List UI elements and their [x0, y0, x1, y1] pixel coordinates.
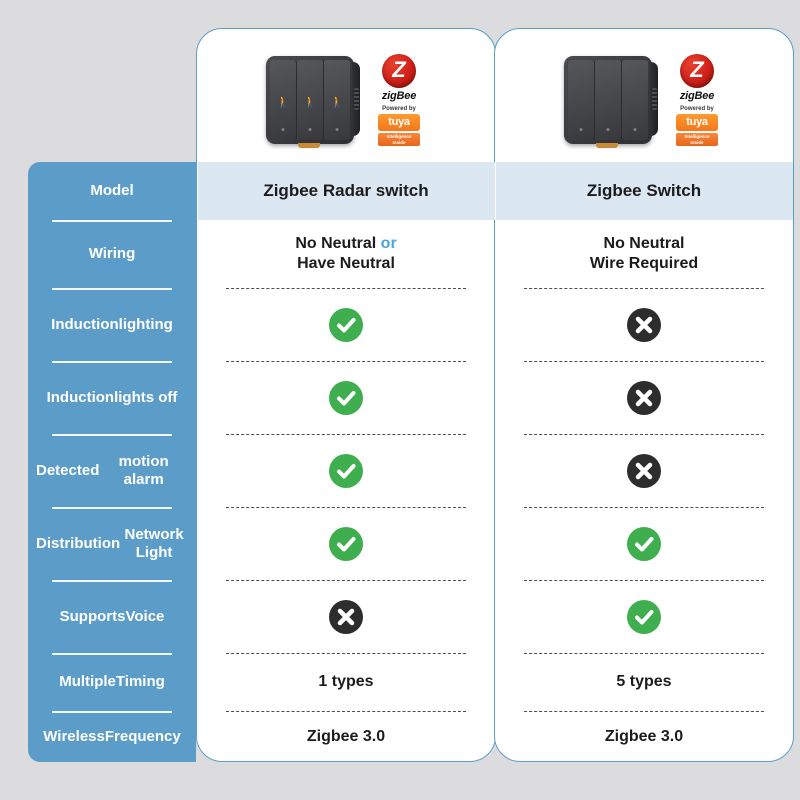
- cell-supports-voice-2: [494, 580, 794, 653]
- zigbee-wordmark: zigBee: [680, 90, 714, 102]
- cell-text: Zigbee 3.0: [605, 727, 683, 747]
- led-indicator-icon: [336, 128, 339, 131]
- led-indicator-icon: [634, 128, 637, 131]
- led-indicator-icon: [282, 128, 285, 131]
- switch-key: [595, 60, 622, 140]
- zigbee-z-glyph: Z: [690, 59, 703, 81]
- cell-distribution-network-light-1: [196, 507, 496, 580]
- cell-multiple-timing-2: 5 types: [494, 653, 794, 711]
- cell-induction-lights-off-2: [494, 361, 794, 434]
- tuya-logo-icon: tuya: [676, 114, 718, 131]
- feature-label-sidebar: ModelWiringInductionlightingInductionlig…: [28, 162, 196, 762]
- wall-switch-image-1: 🚶 🚶 🚶: [264, 54, 360, 146]
- feature-label-multiple-timing: MultipleTiming: [28, 653, 196, 711]
- cell-text: No NeutralWire Required: [590, 234, 698, 274]
- cell-text: 5 types: [616, 672, 671, 692]
- cell-supports-voice-1: [196, 580, 496, 653]
- zigbee-z-glyph: Z: [392, 59, 405, 81]
- cell-wiring-1: No Neutral orHave Neutral: [196, 220, 496, 288]
- product-image-area-1: 🚶 🚶 🚶 Z zi: [197, 29, 495, 167]
- check-circle-icon: [329, 527, 363, 561]
- switch-key: [568, 60, 595, 140]
- powered-by-label: Powered by: [680, 106, 714, 112]
- tuya-logo-icon: tuya: [378, 114, 420, 131]
- check-circle-icon: [329, 454, 363, 488]
- check-circle-icon: [627, 527, 661, 561]
- zigbee-logo-icon: Z: [680, 54, 714, 88]
- cell-induction-lights-off-1: [196, 361, 496, 434]
- cell-distribution-network-light-2: [494, 507, 794, 580]
- feature-label-induction-lights-off: Inductionlights off: [28, 361, 196, 434]
- certification-logos-2: Z zigBee Powered by tuya Intelligence In…: [668, 54, 726, 146]
- feature-label-distribution-network-light: DistributionNetwork Light: [28, 507, 196, 580]
- tuya-intelligence-inside-badge: Intelligence Inside: [378, 133, 420, 146]
- model-name-2: Zigbee Switch: [494, 162, 794, 220]
- cross-circle-icon: [627, 454, 661, 488]
- check-circle-icon: [329, 381, 363, 415]
- switch-key: [622, 60, 648, 140]
- model-name-1: Zigbee Radar switch: [196, 162, 496, 220]
- cell-text: Zigbee 3.0: [307, 727, 385, 747]
- feature-label-supports-voice: SupportsVoice: [28, 580, 196, 653]
- tuya-intelligence-inside-badge: Intelligence Inside: [676, 133, 718, 146]
- motion-sensor-icon: 🚶: [276, 98, 290, 109]
- motion-sensor-icon: 🚶: [303, 98, 317, 109]
- led-indicator-icon: [607, 128, 610, 131]
- certification-logos-1: Z zigBee Powered by tuya Intelligence In…: [370, 54, 428, 146]
- cross-circle-icon: [329, 600, 363, 634]
- feature-label-induction-lighting: Inductionlighting: [28, 288, 196, 361]
- cross-circle-icon: [627, 381, 661, 415]
- switch-key: 🚶: [324, 60, 350, 140]
- zigbee-logo-icon: Z: [382, 54, 416, 88]
- cell-multiple-timing-1: 1 types: [196, 653, 496, 711]
- cell-induction-lighting-1: [196, 288, 496, 361]
- cell-text: No Neutral orHave Neutral: [295, 234, 396, 274]
- tuya-wordmark: tuya: [388, 117, 409, 128]
- switch-key: 🚶: [297, 60, 324, 140]
- cell-detected-motion-alarm-2: [494, 434, 794, 507]
- cell-wireless-frequency-2: Zigbee 3.0: [494, 711, 794, 762]
- cell-text: 1 types: [318, 672, 373, 692]
- feature-label-wireless-frequency: WirelessFrequency: [28, 711, 196, 762]
- product-image-area-2: Z zigBee Powered by tuya Intelligence In…: [495, 29, 793, 167]
- cell-wiring-2: No NeutralWire Required: [494, 220, 794, 288]
- powered-by-label: Powered by: [382, 106, 416, 112]
- cross-circle-icon: [627, 308, 661, 342]
- cell-wireless-frequency-1: Zigbee 3.0: [196, 711, 496, 762]
- feature-label-detected-motion-alarm: Detectedmotion alarm: [28, 434, 196, 507]
- motion-sensor-icon: 🚶: [330, 98, 344, 109]
- led-indicator-icon: [309, 128, 312, 131]
- led-indicator-icon: [580, 128, 583, 131]
- cell-detected-motion-alarm-1: [196, 434, 496, 507]
- cell-induction-lighting-2: [494, 288, 794, 361]
- feature-label-model: Model: [28, 162, 196, 220]
- check-circle-icon: [329, 308, 363, 342]
- zigbee-wordmark: zigBee: [382, 90, 416, 102]
- cell-text-highlight: or: [381, 235, 397, 252]
- feature-label-wiring: Wiring: [28, 220, 196, 288]
- check-circle-icon: [627, 600, 661, 634]
- tuya-wordmark: tuya: [686, 117, 707, 128]
- wall-switch-image-2: [562, 54, 658, 146]
- comparison-table-page: 🚶 🚶 🚶 Z zi: [0, 0, 800, 800]
- switch-key: 🚶: [270, 60, 297, 140]
